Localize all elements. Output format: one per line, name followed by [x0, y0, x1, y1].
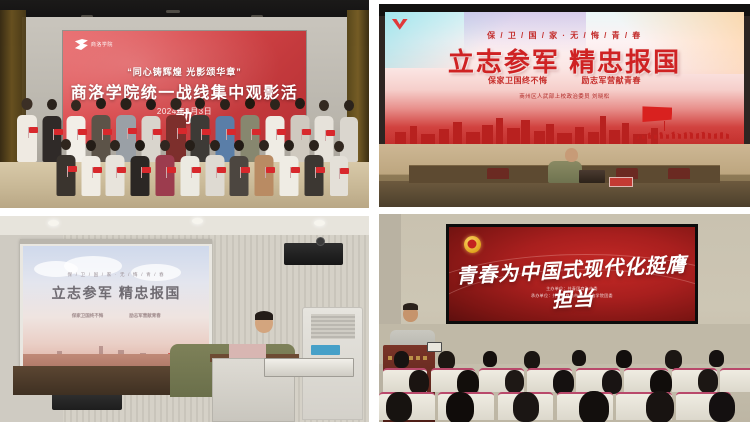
- bl-slide-title: 立志参军 精忠报国: [23, 283, 209, 303]
- tr-banner-kicker: 保 / 卫 / 国 / 家 · 无 / 悔 / 青 / 春: [385, 30, 745, 41]
- audience-head: [386, 392, 412, 422]
- audience-head: [709, 392, 735, 422]
- bl-ac-display-panel: [311, 345, 341, 355]
- photo-collage: 商洛学院 “同心铸辉煌 光影颂华章” 商洛学院统一战线集中观影活动 2024年9…: [0, 0, 750, 422]
- photo-bottom-right-lecture-hall: 青春为中国式现代化挺膺担当 主办单位：共青团商洛市委 承办单位：共青团商洛市委、…: [379, 214, 750, 422]
- person: [103, 139, 128, 195]
- br-speaker-hair: [403, 303, 418, 310]
- tr-speaker-body: [548, 161, 582, 183]
- audience-head: [698, 369, 718, 393]
- person: [277, 139, 302, 195]
- tl-people-front-row: [7, 139, 361, 195]
- audience-head: [709, 350, 724, 367]
- tr-red-flag: [642, 106, 672, 123]
- br-audience: [379, 322, 750, 422]
- smartphone-icon: [427, 342, 442, 352]
- audience-head: [505, 370, 524, 393]
- br-screen-credit-1: 主办单位：共青团商洛市委: [449, 286, 695, 292]
- tr-flagpole: [664, 121, 666, 131]
- bl-slide-subtitle-left: 保家卫国终不悔: [72, 313, 104, 319]
- audience-head: [665, 350, 682, 369]
- tr-chair: [487, 168, 509, 179]
- br-screen-title: 青春为中国式现代化挺膺担当: [449, 247, 695, 318]
- bl-slide-subtitle-right: 励志军营献青春: [129, 313, 161, 319]
- person: [78, 139, 103, 195]
- bl-slide-subtitles: 保家卫国终不悔 励志军营献青春: [23, 313, 209, 319]
- party-emblem-icon: [464, 236, 481, 253]
- tl-logo-text: 商洛学院: [91, 41, 113, 48]
- photo-bottom-left-projection: 保 / 卫 / 国 / 家 · 无 / 悔 / 青 / 春 立志参军 精忠报国 …: [0, 216, 369, 422]
- person: [326, 139, 351, 195]
- audience-head: [394, 351, 409, 368]
- bl-podium-nameplate: [229, 344, 266, 358]
- person: [177, 139, 202, 195]
- tr-nameplate: [609, 177, 633, 187]
- audience-head: [483, 351, 497, 367]
- audience-head: [446, 392, 474, 422]
- photo-top-left-group-photo: 商洛学院 “同心铸辉煌 光影颂华章” 商洛学院统一战线集中观影活动 2024年9…: [0, 0, 369, 208]
- bl-screen-roller: [20, 239, 212, 245]
- person: [128, 139, 153, 195]
- bl-officer-hair: [255, 311, 273, 320]
- tr-banner-subtitle-right: 励志军营献青春: [581, 75, 641, 86]
- bl-projector-lens-icon: [316, 237, 325, 246]
- audience-head: [646, 391, 674, 422]
- bl-slide-kicker: 保 / 卫 / 国 / 家 · 无 / 悔 / 青 / 春: [23, 272, 209, 278]
- br-led-screen-frame: 青春为中国式现代化挺膺担当 主办单位：共青团商洛市委 承办单位：共青团商洛市委、…: [446, 224, 698, 324]
- tr-banner-subtitle-left: 保家卫国终不悔: [488, 75, 548, 86]
- audience-head: [579, 391, 609, 422]
- tr-city-skyline: [385, 101, 745, 147]
- audience-head: [409, 370, 429, 394]
- br-led-screen: 青春为中国式现代化挺膺担当 主办单位：共青团商洛市委 承办单位：共青团商洛市委、…: [449, 227, 695, 321]
- bl-downlight: [192, 218, 203, 224]
- tr-led-banner: 保 / 卫 / 国 / 家 · 无 / 悔 / 青 / 春 立志参军 精忠报国 …: [385, 12, 745, 146]
- bl-ceiling-projector: [284, 243, 343, 266]
- tr-banner-title: 立志参军 精忠报国: [385, 42, 745, 79]
- audience-head: [616, 350, 632, 368]
- audience-head: [513, 392, 539, 422]
- tr-chair: [668, 168, 690, 179]
- bl-open-laptop: [264, 358, 355, 376]
- audience-head: [572, 350, 586, 366]
- tr-banner-subtitles: 保家卫国终不悔 励志军营献青春: [385, 75, 745, 86]
- tl-university-logo: 商洛学院: [75, 39, 113, 50]
- bl-downlight: [314, 220, 325, 226]
- university-logo-icon: [75, 39, 88, 50]
- tr-laptop: [579, 170, 605, 183]
- person: [153, 139, 178, 195]
- tl-group-of-people: [7, 92, 361, 196]
- tl-screen-kicker: “同心铸辉煌 光影颂华章”: [63, 65, 307, 78]
- party-emblem-inner: [468, 240, 477, 249]
- person: [202, 139, 227, 195]
- audience-head: [602, 370, 622, 394]
- photo-top-right-recruitment-banner: 保 / 卫 / 国 / 家 · 无 / 悔 / 青 / 春 立志参军 精忠报国 …: [379, 4, 750, 207]
- tr-banner-credit: 商州区人武部上校政治委员 刘晓松: [385, 92, 745, 100]
- br-screen-credit-2: 承办单位：共青团商洛市委、商洛学院团委: [449, 293, 695, 299]
- person: [53, 139, 78, 195]
- audience-head: [524, 351, 540, 369]
- tr-desk-row: [379, 181, 750, 207]
- person: [227, 139, 252, 195]
- tl-ceiling-light: [166, 10, 180, 13]
- person: [301, 139, 326, 195]
- seat: [720, 368, 750, 392]
- person: [252, 139, 277, 195]
- bl-ac-vents: [311, 314, 356, 338]
